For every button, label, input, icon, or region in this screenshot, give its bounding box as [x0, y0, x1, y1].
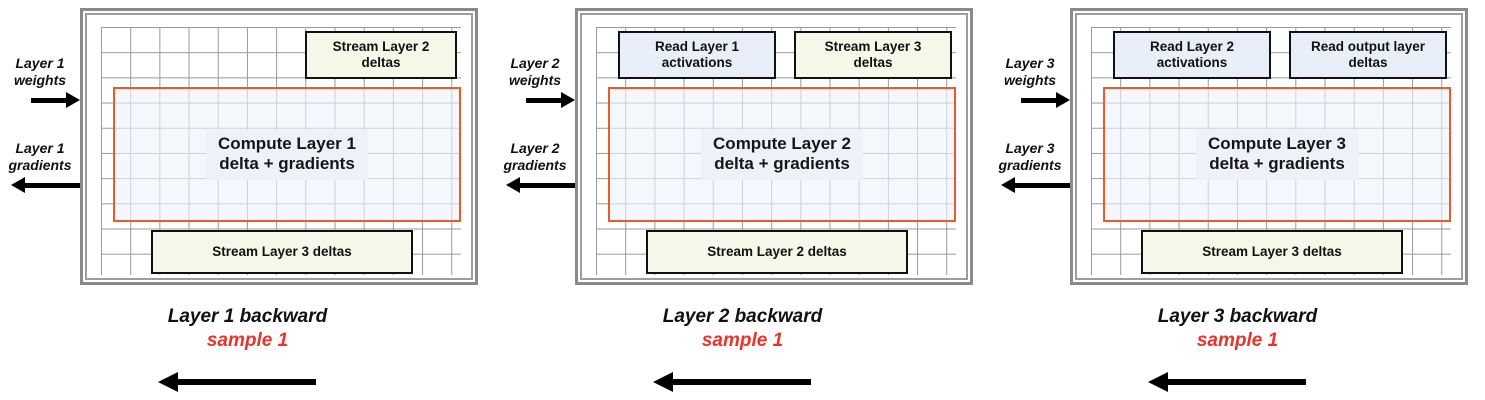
gradients-out-arrow-icon [0, 174, 80, 196]
input-io-label: Layer 1 weights [0, 55, 80, 89]
compute-label: Compute Layer 2 delta + gradients [701, 129, 863, 179]
weights-in-arrow-icon [0, 89, 80, 111]
memory-op-box-top-left: Read Layer 2 activations [1113, 31, 1271, 79]
arrow-head [561, 92, 575, 108]
input-io-label: Layer 2 weights [495, 55, 575, 89]
arrow-shaft [520, 183, 575, 188]
arrow-head [1056, 92, 1070, 108]
flow-direction-arrow-icon [1138, 372, 1338, 392]
output-io-label: Layer 2 gradients [495, 140, 575, 174]
arrow-head [11, 177, 25, 193]
memory-op-box-bottom: Stream Layer 2 deltas [646, 230, 908, 274]
arrow-head [506, 177, 520, 193]
compute-region: Compute Layer 3 delta + gradients [1103, 87, 1451, 222]
chip-inner-outline: Compute Layer 3 delta + gradients Read L… [1075, 13, 1463, 280]
caption-stage-label: Layer 1 backward [0, 305, 495, 329]
arrow-shaft [176, 379, 316, 385]
compute-region: Compute Layer 1 delta + gradients [113, 87, 461, 222]
stage-panel-layer-3-backward: Layer 3 weights Layer 3 gradients Comput… [990, 0, 1485, 400]
compute-label: Compute Layer 3 delta + gradients [1196, 129, 1358, 179]
arrow-shaft [25, 183, 80, 188]
memory-op-box-top-left: Read Layer 1 activations [618, 31, 776, 79]
caption-stage-label: Layer 2 backward [495, 305, 990, 329]
arrow-head [66, 92, 80, 108]
compute-region: Compute Layer 2 delta + gradients [608, 87, 956, 222]
flow-direction-arrow-icon [643, 372, 843, 392]
arrow-shaft [1015, 183, 1070, 188]
chip-outline: Compute Layer 1 delta + gradients Stream… [80, 8, 478, 285]
output-io-group: Layer 2 gradients [495, 140, 575, 196]
panel-caption: Layer 3 backward sample 1 [990, 305, 1485, 353]
arrow-shaft [31, 98, 69, 103]
memory-op-box-bottom: Stream Layer 3 deltas [151, 230, 413, 274]
gradients-out-arrow-icon [495, 174, 575, 196]
arrow-shaft [1166, 379, 1306, 385]
input-io-group: Layer 2 weights [495, 55, 575, 111]
chip-inner-outline: Compute Layer 2 delta + gradients Read L… [580, 13, 968, 280]
input-io-group: Layer 1 weights [0, 55, 80, 111]
output-io-group: Layer 1 gradients [0, 140, 80, 196]
stage-panel-layer-1-backward: Layer 1 weights Layer 1 gradients Comput… [0, 0, 495, 400]
weights-in-arrow-icon [990, 89, 1070, 111]
caption-sample-label: sample 1 [0, 329, 495, 353]
chip-outline: Compute Layer 3 delta + gradients Read L… [1070, 8, 1468, 285]
memory-op-box-bottom: Stream Layer 3 deltas [1141, 230, 1403, 274]
flow-direction-arrow-icon [148, 372, 348, 392]
output-io-label: Layer 3 gradients [990, 140, 1070, 174]
gradients-out-arrow-icon [990, 174, 1070, 196]
arrow-shaft [526, 98, 564, 103]
memory-op-box-top-right: Stream Layer 3 deltas [794, 31, 952, 79]
arrow-head [158, 372, 178, 392]
arrow-head [1148, 372, 1168, 392]
compute-label: Compute Layer 1 delta + gradients [206, 129, 368, 179]
memory-op-box-top-right: Read output layer deltas [1289, 31, 1447, 79]
arrow-shaft [671, 379, 811, 385]
caption-sample-label: sample 1 [495, 329, 990, 353]
chip-outline: Compute Layer 2 delta + gradients Read L… [575, 8, 973, 285]
arrow-shaft [1021, 98, 1059, 103]
panel-caption: Layer 1 backward sample 1 [0, 305, 495, 353]
arrow-head [1001, 177, 1015, 193]
caption-stage-label: Layer 3 backward [990, 305, 1485, 329]
weights-in-arrow-icon [495, 89, 575, 111]
chip-inner-outline: Compute Layer 1 delta + gradients Stream… [85, 13, 473, 280]
input-io-label: Layer 3 weights [990, 55, 1070, 89]
backward-pass-pipeline-diagram: Layer 1 weights Layer 1 gradients Comput… [0, 0, 1485, 400]
panel-caption: Layer 2 backward sample 1 [495, 305, 990, 353]
stage-panel-layer-2-backward: Layer 2 weights Layer 2 gradients Comput… [495, 0, 990, 400]
input-io-group: Layer 3 weights [990, 55, 1070, 111]
arrow-head [653, 372, 673, 392]
output-io-label: Layer 1 gradients [0, 140, 80, 174]
output-io-group: Layer 3 gradients [990, 140, 1070, 196]
memory-op-box-top: Stream Layer 2 deltas [305, 31, 457, 79]
caption-sample-label: sample 1 [990, 329, 1485, 353]
